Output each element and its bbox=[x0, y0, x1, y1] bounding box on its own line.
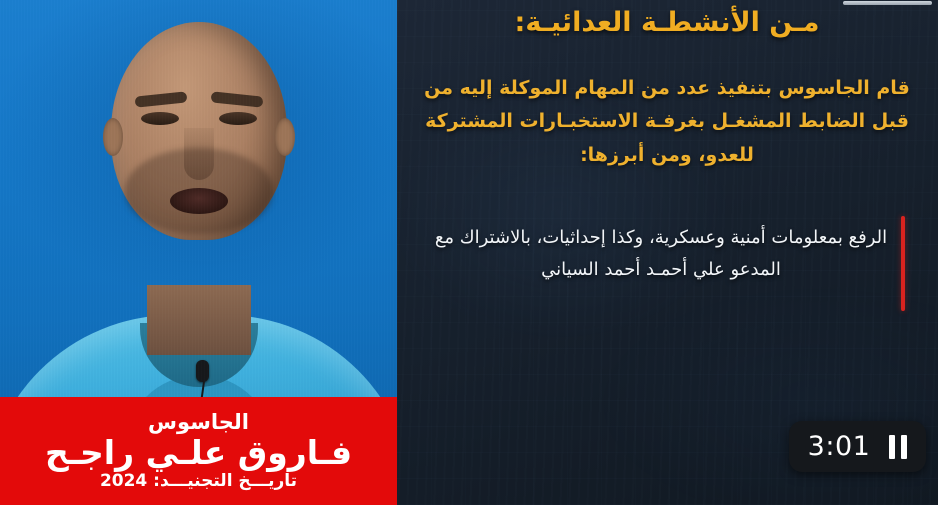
panel-title: مـن الأنشطـة العدائيـة: bbox=[411, 6, 923, 40]
pause-icon[interactable] bbox=[889, 435, 907, 459]
panel-bullet-text: الرفع بمعلومات أمنية وعسكرية، وكذا إحداث… bbox=[415, 222, 907, 286]
banner-recruitment-date: تاريـــخ التجنيـــد: 2024 bbox=[100, 473, 297, 490]
scroll-indicator[interactable] bbox=[843, 1, 932, 5]
video-time-label: 3:01 bbox=[808, 433, 871, 460]
identity-banner: الجاسوس فـاروق علـي راجـح تاريـــخ التجن… bbox=[0, 397, 397, 505]
red-accent-bar bbox=[901, 216, 905, 311]
banner-role-label: الجاسوس bbox=[148, 412, 249, 433]
video-timer-pill[interactable]: 3:01 bbox=[789, 421, 926, 472]
panel-bullet-block: الرفع بمعلومات أمنية وعسكرية، وكذا إحداث… bbox=[415, 222, 907, 286]
panel-body-text: قام الجاسوس بتنفيذ عدد من المهام الموكلة… bbox=[417, 72, 917, 172]
pause-bar-left bbox=[889, 435, 895, 459]
pause-bar-right bbox=[901, 435, 907, 459]
banner-person-name: فـاروق علـي راجـح bbox=[45, 436, 352, 471]
screen-root: الجاسوس فـاروق علـي راجـح تاريـــخ التجن… bbox=[0, 0, 938, 505]
